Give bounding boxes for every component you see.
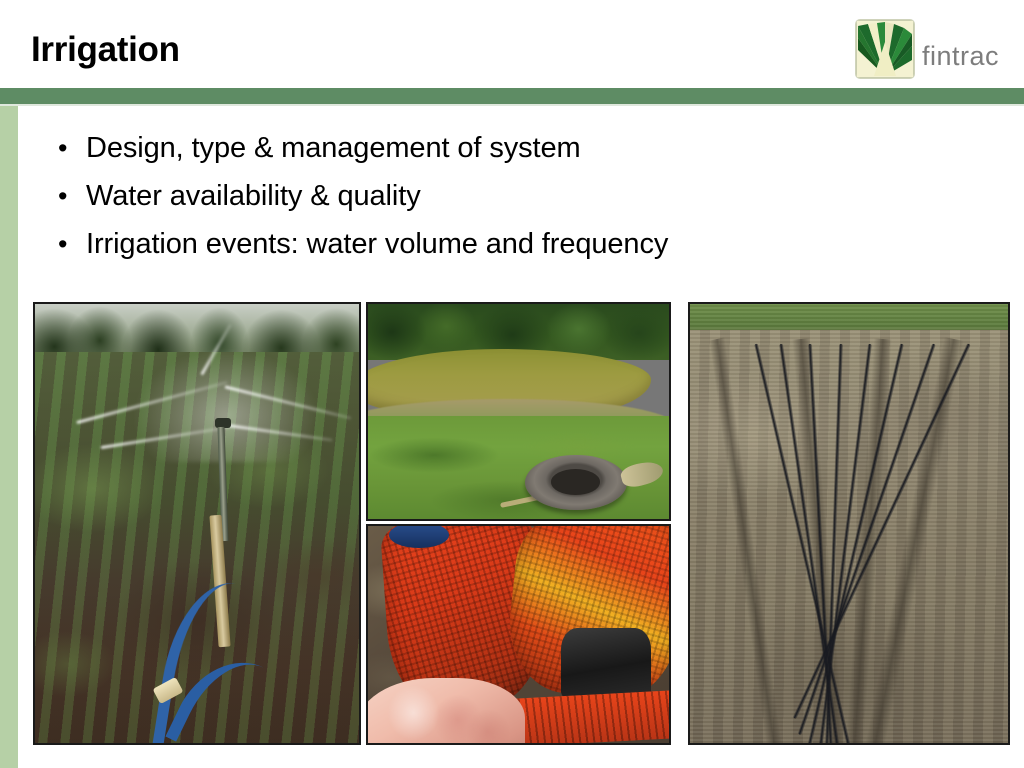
drip-scene (690, 304, 1008, 743)
photo-water-pond (366, 302, 671, 521)
filter-scene (368, 526, 669, 743)
sprinkler-scene (35, 304, 359, 743)
list-item: • Water availability & quality (48, 174, 988, 222)
photo-mesh-filter (366, 524, 671, 745)
old-tire (525, 455, 627, 511)
photo-sprinkler-irrigation (33, 302, 361, 745)
fintrac-logo: fintrac (856, 19, 1006, 79)
bullet-marker-icon: • (48, 222, 86, 266)
black-pipe-end (561, 628, 651, 700)
bullet-text: Design, type & management of system (86, 126, 581, 170)
header-divider-bar (0, 88, 1024, 104)
left-accent-band (0, 106, 18, 768)
fintrac-leaf-icon (856, 20, 914, 78)
blue-ring (389, 524, 449, 548)
slide-header: Irrigation fi (0, 0, 1024, 88)
list-item: • Irrigation events: water volume and fr… (48, 222, 988, 270)
logo-wordmark: fintrac (922, 29, 999, 70)
bullet-list: • Design, type & management of system • … (48, 126, 988, 270)
bullet-marker-icon: • (48, 174, 86, 218)
photo-drip-irrigation (688, 302, 1010, 745)
slide: Irrigation fi (0, 0, 1024, 768)
hand (366, 678, 525, 745)
pond-scene (368, 304, 669, 519)
bullet-text: Water availability & quality (86, 174, 421, 218)
bullet-text: Irrigation events: water volume and freq… (86, 222, 668, 266)
header-divider-shadow (0, 104, 1024, 106)
bullet-marker-icon: • (48, 126, 86, 170)
page-title: Irrigation (31, 28, 180, 72)
list-item: • Design, type & management of system (48, 126, 988, 174)
